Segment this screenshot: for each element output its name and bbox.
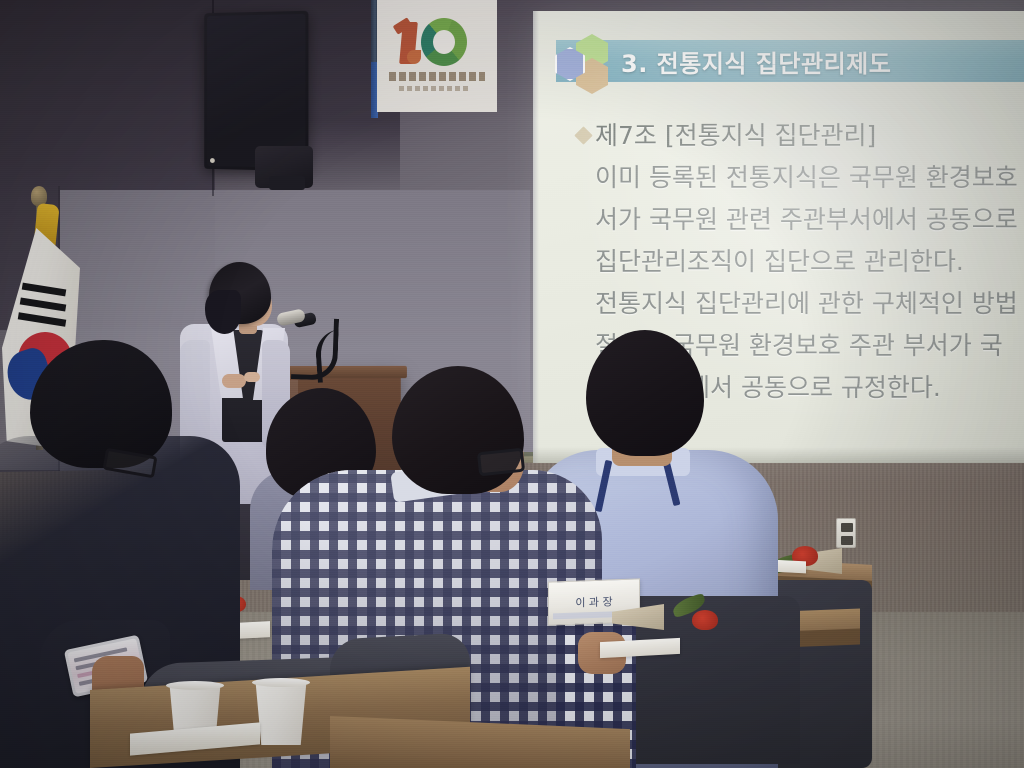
outlet-socket [841,523,853,532]
wall-outlet [836,518,856,548]
screen-left-edge [533,11,539,463]
flower-corsage [692,610,718,630]
diamond-bullet-icon [574,126,592,144]
slide-heading-text: 제7조 [전통지식 집단관리] [595,121,876,150]
banner-subtext-line [399,86,471,91]
name-placard-center-text: 이 과 장 [575,593,612,610]
banner-text-line [389,72,485,81]
paper-cup-rim [166,681,224,690]
presenter-hand-right [244,372,260,382]
slide-body-line-5: 전통지식 집단관리에 관한 구체적인 방법 [577,283,1024,325]
upper-wall-shadow [0,0,400,200]
speaker-mount-arm [269,176,305,190]
speaker-screw [210,158,215,163]
eyeglasses [477,448,525,477]
slide-body-line-1: 제7조 [전통지식 집단관리] [577,115,1024,157]
banner-logo-zero-hole [433,30,455,54]
slide-title: 3. 전통지식 집단관리제도 [621,42,1021,80]
slide-logo [553,32,627,90]
slide-body-line-2: 이미 등록된 전통지식은 국무원 환경보호 [577,157,1024,199]
seminar-photo-scene: 3. 전통지식 집단관리제도 제7조 [전통지식 집단관리] 이미 등록된 전통… [0,0,1024,768]
slide-body-line-3: 서가 국무원 관련 주관부서에서 공동으로 [577,199,1024,241]
anniversary-banner [377,0,497,112]
paper-cup [252,681,310,745]
banner-logo-leaf [407,50,421,64]
outlet-socket [841,536,853,545]
presenter-hair-back [205,290,241,334]
paper-cup-rim [252,678,310,687]
speaker-face [207,14,305,168]
slide-body-line-4: 집단관리조직이 집단으로 관리한다. [577,241,1024,283]
presenter-hand [222,374,246,388]
